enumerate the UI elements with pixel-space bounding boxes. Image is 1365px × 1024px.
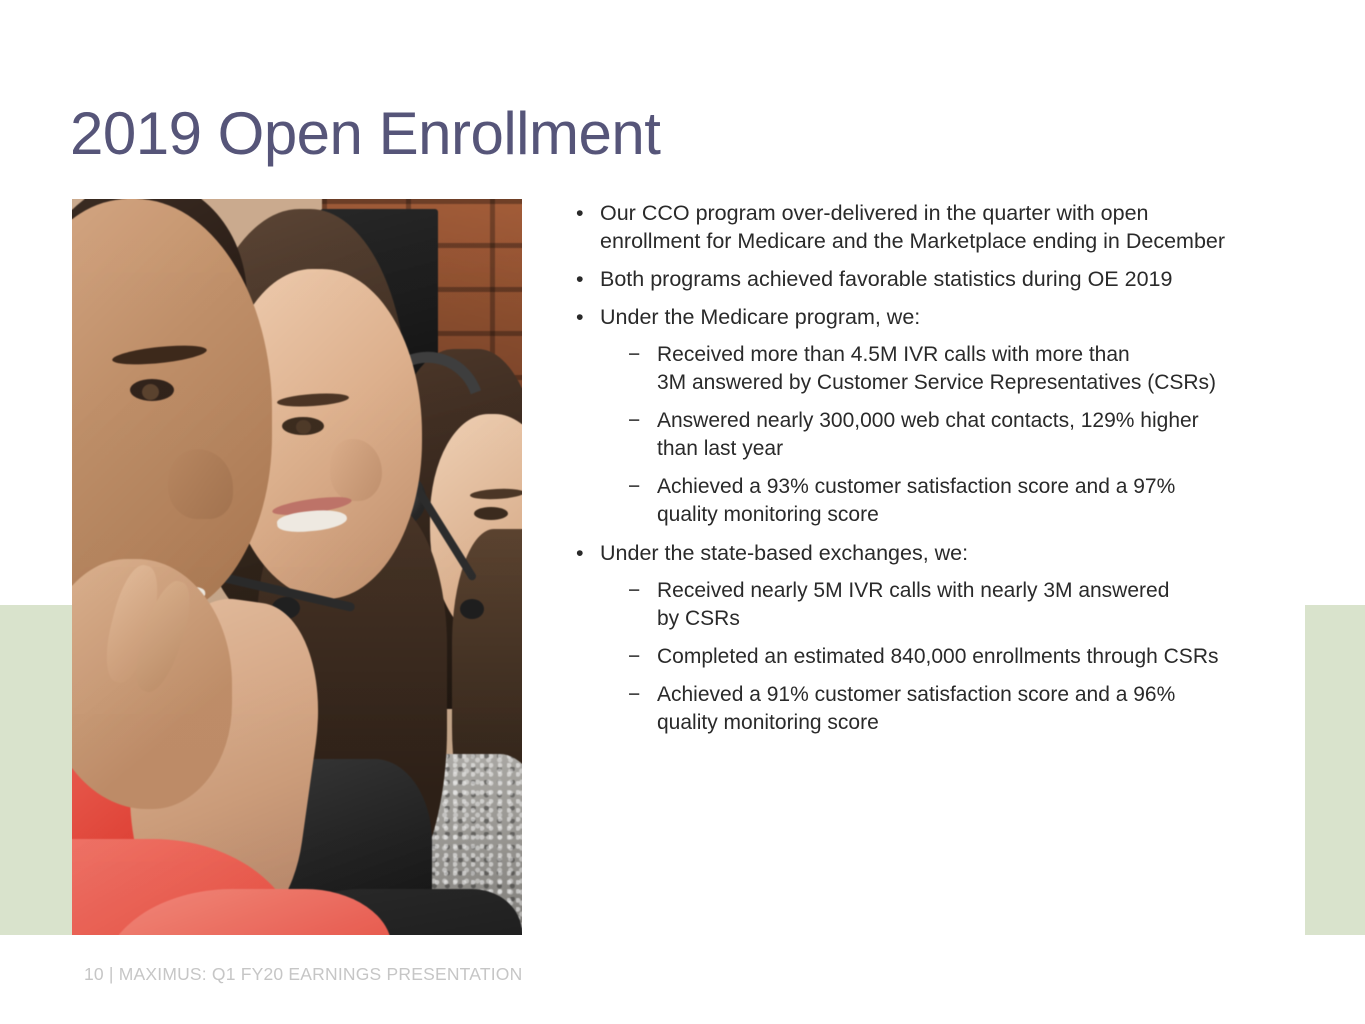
slide-footer: 10 | MAXIMUS: Q1 FY20 EARNINGS PRESENTAT… bbox=[84, 964, 522, 985]
bullet-list: •Our CCO program over-delivered in the q… bbox=[568, 199, 1278, 747]
bullet-text-line: than last year bbox=[657, 435, 1278, 463]
dash-marker-icon: − bbox=[628, 681, 640, 709]
bullet-text-line: Received more than 4.5M IVR calls with m… bbox=[657, 341, 1278, 369]
bullet-text-line: Our CCO program over-delivered in the qu… bbox=[600, 199, 1278, 227]
sub-bullet-item: −Achieved a 93% customer satisfaction sc… bbox=[568, 473, 1278, 529]
bullet-text-line: Achieved a 91% customer satisfaction sco… bbox=[657, 681, 1278, 709]
bullet-text-line: Under the state-based exchanges, we: bbox=[600, 539, 1278, 567]
sub-bullet-item: −Achieved a 91% customer satisfaction sc… bbox=[568, 681, 1278, 737]
bullet-text-line: enrollment for Medicare and the Marketpl… bbox=[600, 227, 1278, 255]
bullet-text-line: Under the Medicare program, we: bbox=[600, 303, 1278, 331]
bullet-marker-icon: • bbox=[576, 539, 584, 567]
bullet-text-line: Achieved a 93% customer satisfaction sco… bbox=[657, 473, 1278, 501]
accent-band-right bbox=[1305, 605, 1365, 935]
photo-overlay bbox=[72, 199, 522, 935]
accent-band-left bbox=[0, 605, 72, 935]
dash-marker-icon: − bbox=[628, 473, 640, 501]
bullet-item: •Under the Medicare program, we: bbox=[568, 303, 1278, 331]
bullet-item: •Our CCO program over-delivered in the q… bbox=[568, 199, 1278, 255]
bullet-marker-icon: • bbox=[576, 199, 584, 227]
bullet-text-line: Answered nearly 300,000 web chat contact… bbox=[657, 407, 1278, 435]
slide-title: 2019 Open Enrollment bbox=[70, 102, 660, 165]
sub-bullet-item: −Received more than 4.5M IVR calls with … bbox=[568, 341, 1278, 397]
bullet-text-line: by CSRs bbox=[657, 605, 1278, 633]
dash-marker-icon: − bbox=[628, 577, 640, 605]
bullet-text-line: 3M answered by Customer Service Represen… bbox=[657, 369, 1278, 397]
dash-marker-icon: − bbox=[628, 643, 640, 671]
call-center-photo bbox=[72, 199, 522, 935]
bullet-text-line: quality monitoring score bbox=[657, 709, 1278, 737]
bullet-text-line: quality monitoring score bbox=[657, 501, 1278, 529]
presentation-slide: 2019 Open Enrollment bbox=[0, 0, 1365, 1024]
dash-marker-icon: − bbox=[628, 407, 640, 435]
bullet-item: •Under the state-based exchanges, we: bbox=[568, 539, 1278, 567]
sub-bullet-item: −Answered nearly 300,000 web chat contac… bbox=[568, 407, 1278, 463]
bullet-item: •Both programs achieved favorable statis… bbox=[568, 265, 1278, 293]
sub-bullet-item: −Completed an estimated 840,000 enrollme… bbox=[568, 643, 1278, 671]
sub-bullet-item: −Received nearly 5M IVR calls with nearl… bbox=[568, 577, 1278, 633]
bullet-marker-icon: • bbox=[576, 265, 584, 293]
bullet-text-line: Completed an estimated 840,000 enrollmen… bbox=[657, 643, 1278, 671]
bullet-marker-icon: • bbox=[576, 303, 584, 331]
dash-marker-icon: − bbox=[628, 341, 640, 369]
bullet-text-line: Both programs achieved favorable statist… bbox=[600, 265, 1278, 293]
bullet-text-line: Received nearly 5M IVR calls with nearly… bbox=[657, 577, 1278, 605]
